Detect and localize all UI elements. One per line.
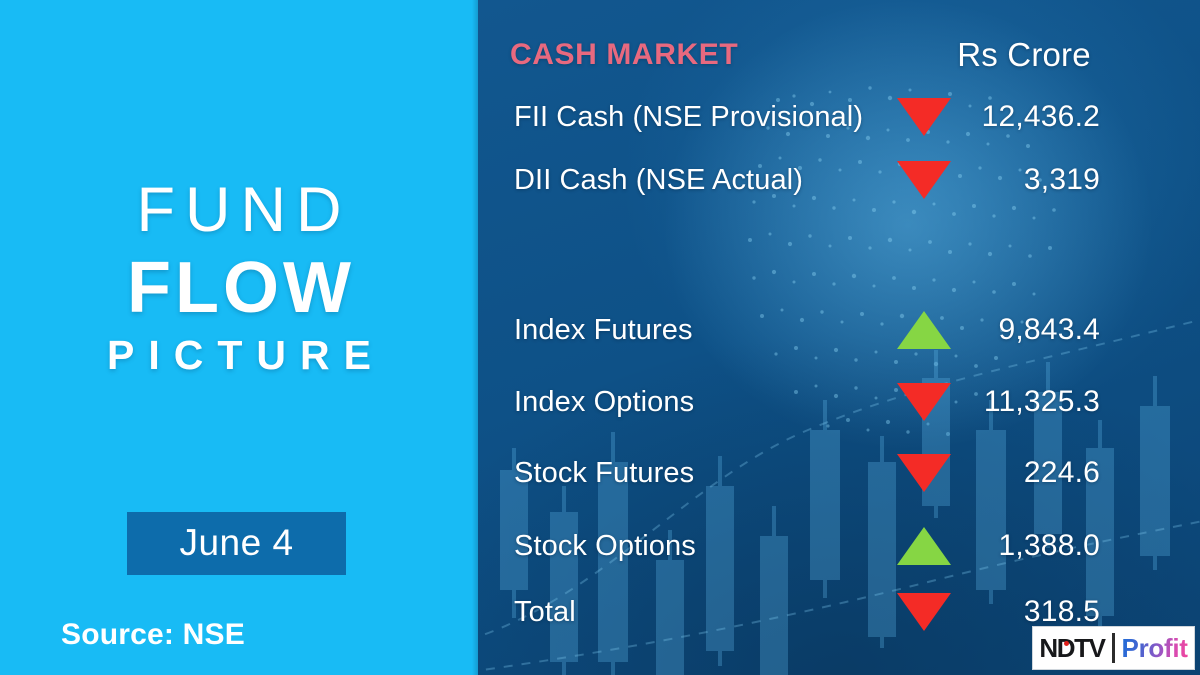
table-row: FII Cash (NSE Provisional) 12,436.2 (478, 95, 1200, 139)
row-value: 1,388.0 (948, 529, 1100, 563)
direction-indicator (892, 383, 956, 421)
logo-profit-label: Profit (1122, 635, 1188, 661)
triangle-down-icon (897, 383, 951, 421)
direction-indicator (892, 527, 956, 565)
row-label: Stock Futures (514, 457, 694, 490)
direction-indicator (892, 98, 956, 136)
row-label: FII Cash (NSE Provisional) (514, 101, 863, 134)
triangle-down-icon (897, 98, 951, 136)
date-badge: June 4 (127, 512, 346, 575)
table-row: DII Cash (NSE Actual) 3,319 (478, 158, 1200, 202)
brand-title: FUND FLOW PICTURE (0, 172, 478, 382)
logo-divider (1112, 633, 1115, 663)
direction-indicator (892, 454, 956, 492)
infographic-card: FUND FLOW PICTURE June 4 Source: NSE (0, 0, 1200, 675)
logo-ndtv-label: NDTV (1039, 633, 1104, 663)
table-row: Stock Futures 224.6 (478, 451, 1200, 495)
left-branding-panel: FUND FLOW PICTURE June 4 Source: NSE (0, 0, 478, 675)
brand-line-picture: PICTURE (0, 328, 478, 382)
row-value: 9,843.4 (948, 313, 1100, 347)
row-value: 12,436.2 (948, 100, 1100, 134)
direction-indicator (892, 161, 956, 199)
row-value: 318.5 (948, 595, 1100, 629)
triangle-down-icon (897, 161, 951, 199)
direction-indicator (892, 593, 956, 631)
row-value: 11,325.3 (948, 385, 1100, 419)
triangle-down-icon (897, 593, 951, 631)
brand-line-fund: FUND (0, 172, 478, 248)
logo-ndtv-text: NDTV (1039, 635, 1104, 661)
triangle-up-icon (897, 311, 951, 349)
table-row: Index Futures 9,843.4 (478, 308, 1200, 352)
brand-line-flow: FLOW (0, 248, 478, 328)
triangle-up-icon (897, 527, 951, 565)
table-row: Stock Options 1,388.0 (478, 524, 1200, 568)
row-label: Total (514, 596, 576, 629)
row-label: DII Cash (NSE Actual) (514, 164, 803, 197)
row-label: Index Futures (514, 314, 693, 347)
ndtv-profit-logo: NDTV Profit (1032, 626, 1195, 670)
data-panel: CASH MARKET Rs Crore FII Cash (NSE Provi… (478, 0, 1200, 675)
direction-indicator (892, 311, 956, 349)
date-badge-label: June 4 (179, 524, 293, 564)
section-title-cash-market: CASH MARKET (510, 38, 738, 72)
unit-label-rs-crore: Rs Crore (948, 36, 1100, 74)
source-label: Source: NSE (61, 618, 245, 652)
row-value: 224.6 (948, 456, 1100, 490)
row-label: Index Options (514, 386, 694, 419)
table-row: Index Options 11,325.3 (478, 380, 1200, 424)
triangle-down-icon (897, 454, 951, 492)
row-value: 3,319 (948, 163, 1100, 197)
row-label: Stock Options (514, 530, 696, 563)
